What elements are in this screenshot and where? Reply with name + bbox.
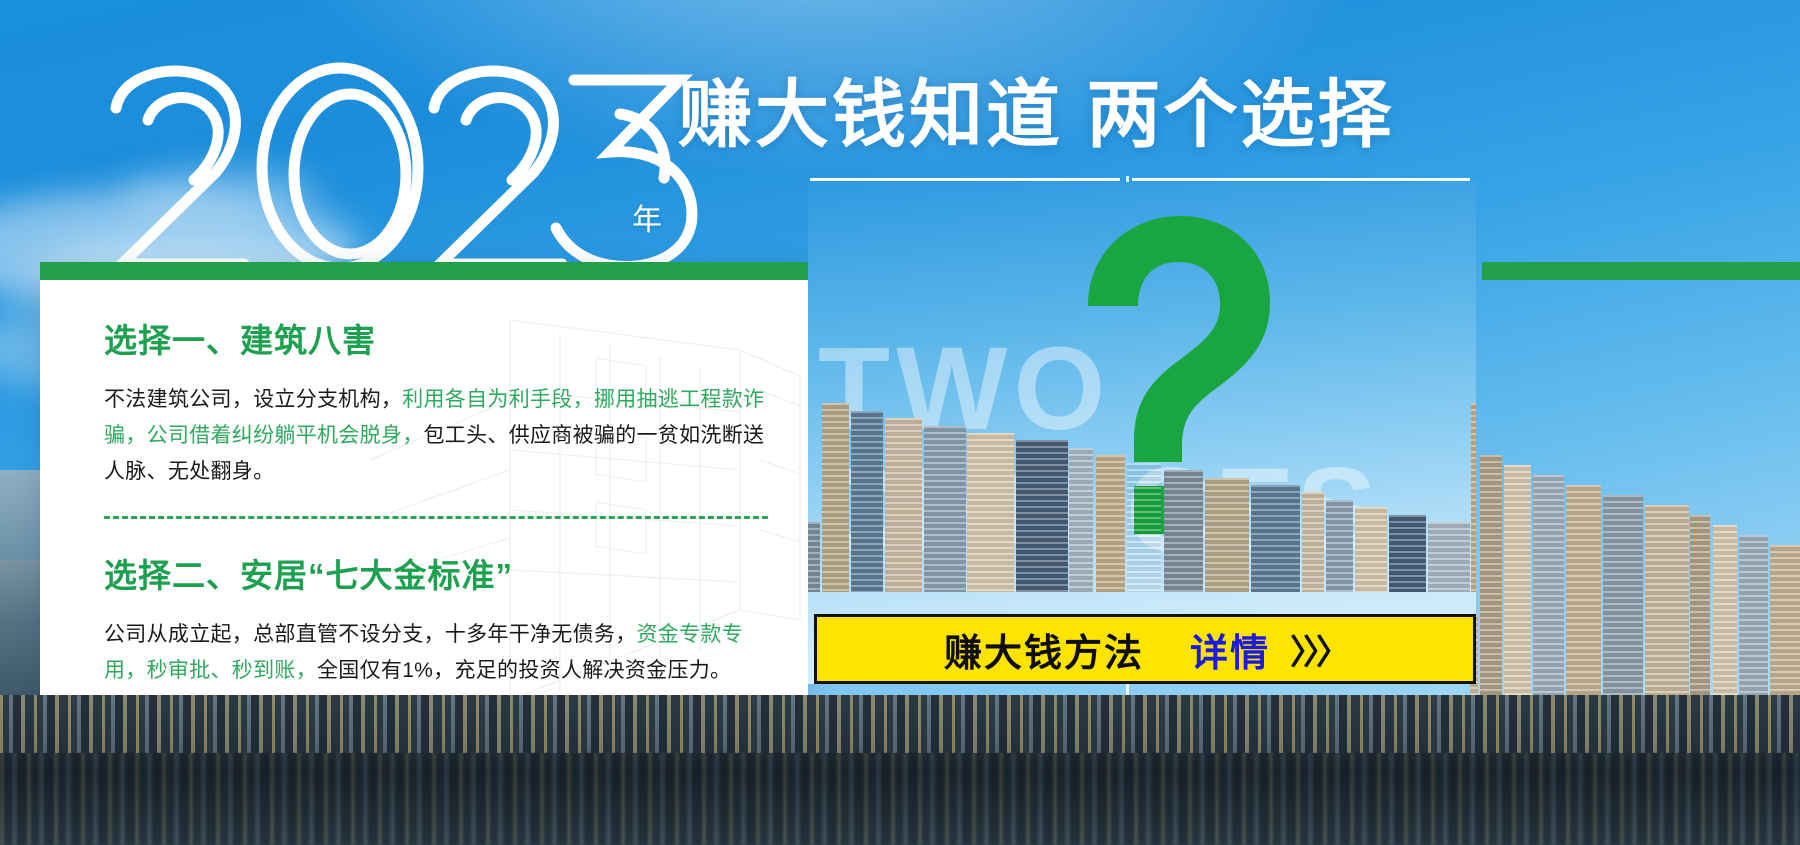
building-shape (1069, 448, 1093, 592)
content-card: 选择一、建筑八害 不法建筑公司，设立分支机构，利用各自为利手段，挪用抽逃工程款诈… (40, 262, 808, 717)
building-shape (1355, 507, 1387, 592)
building-shape (1251, 485, 1300, 592)
cloud-shape (120, 165, 320, 220)
building-shape (967, 433, 1014, 592)
cta-main-label: 赚大钱方法 (944, 622, 1144, 677)
building-shape (1326, 500, 1353, 592)
building-shape (1016, 440, 1068, 592)
cta-details-link[interactable]: 详情 (1190, 622, 1270, 677)
building-shape (1302, 492, 1324, 592)
cta-banner[interactable]: 赚大钱方法 详情 〉〉〉 (814, 614, 1476, 684)
building-shape (808, 522, 820, 592)
chevron-right-icon: 〉〉〉 (1290, 625, 1346, 674)
year-suffix-label: 年 (632, 195, 663, 239)
building-shape (822, 403, 849, 592)
building-shape (1504, 465, 1531, 695)
card-green-header-bar (40, 262, 808, 280)
building-shape (1127, 463, 1161, 592)
building-shape (1164, 470, 1203, 592)
building-shape (1713, 525, 1737, 695)
run-text: 不法建筑公司，设立分支机构， (104, 388, 402, 411)
building-shape (1603, 495, 1643, 695)
building-shape (1690, 515, 1710, 695)
section-1-body: 不法建筑公司，设立分支机构，利用各自为利手段，挪用抽逃工程款诈骗，公司借着纠纷躺… (104, 382, 768, 490)
building-shape (1770, 545, 1800, 695)
banner-root: 年 赚大钱知道 两个选择 (0, 0, 1800, 845)
run-text: 公司从成立起，总部直管不设分支，十多年干净无债务， (104, 623, 637, 646)
building-shape (851, 411, 883, 592)
building-shape (1480, 455, 1502, 695)
building-shape (1428, 522, 1470, 592)
run-text: 全国仅有1%，充足的投资人解决资金压力。 (317, 659, 731, 682)
background-skyline (1470, 430, 1800, 695)
title-rule-right (1132, 178, 1470, 181)
section-divider (104, 516, 768, 519)
title-underline (810, 178, 1470, 181)
building-shape (885, 418, 922, 592)
building-shape (1566, 485, 1601, 695)
building-shape (1389, 515, 1426, 592)
title-rule-left (810, 178, 1120, 181)
section-2-heading: 选择二、安居“七大金标准” (104, 549, 768, 597)
building-shape (1533, 475, 1564, 695)
right-image-panel: TWO CHOICES 赚大钱方法 详情 〉〉〉 (808, 182, 1476, 684)
panel-skyline-photo (808, 392, 1476, 592)
building-shape (1739, 535, 1768, 695)
building-shape (924, 426, 966, 592)
building-shape (1471, 403, 1476, 592)
page-title: 赚大钱知道 两个选择 (678, 78, 1395, 152)
section-1-heading: 选择一、建筑八害 (104, 314, 768, 362)
section-2-body: 公司从成立起，总部直管不设分支，十多年干净无债务，资金专款专用，秒审批、秒到账，… (104, 617, 768, 689)
bottom-waterfront-strip (0, 695, 1800, 845)
building-shape (1645, 505, 1689, 695)
green-accent-bar (1482, 262, 1800, 280)
building-shape (1205, 478, 1249, 592)
building-shape (1096, 455, 1125, 592)
